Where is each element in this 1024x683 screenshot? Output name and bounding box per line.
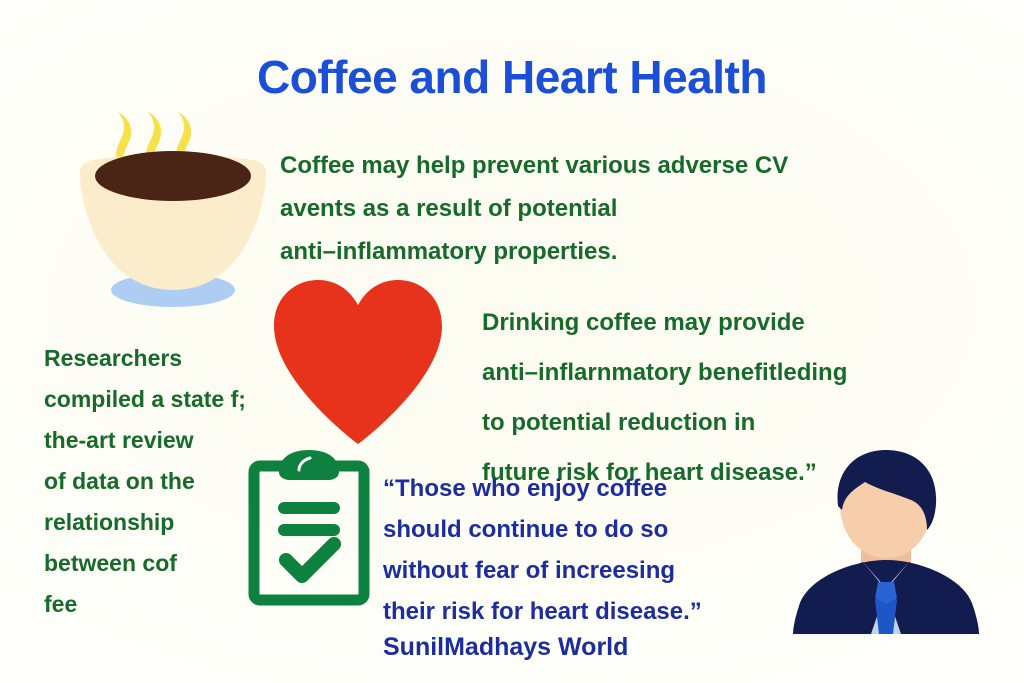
page-title: Coffee and Heart Health [0, 50, 1024, 104]
paragraph-left: Researchers compiled a state f; the-art … [44, 338, 279, 625]
coffee-cup-icon [62, 100, 284, 312]
quote-attribution: SunilMadhays World [383, 633, 628, 662]
coffee-surface [95, 151, 251, 201]
pull-quote: “Those who enjoy coffee should continue … [383, 468, 803, 632]
paragraph-top: Coffee may help prevent various adverse … [280, 144, 940, 273]
infographic-canvas: Coffee and Heart Health Coffee may help … [0, 0, 1024, 683]
heart-icon [268, 278, 448, 444]
clipboard-check-icon [248, 448, 370, 606]
person-avatar-icon [793, 448, 979, 634]
